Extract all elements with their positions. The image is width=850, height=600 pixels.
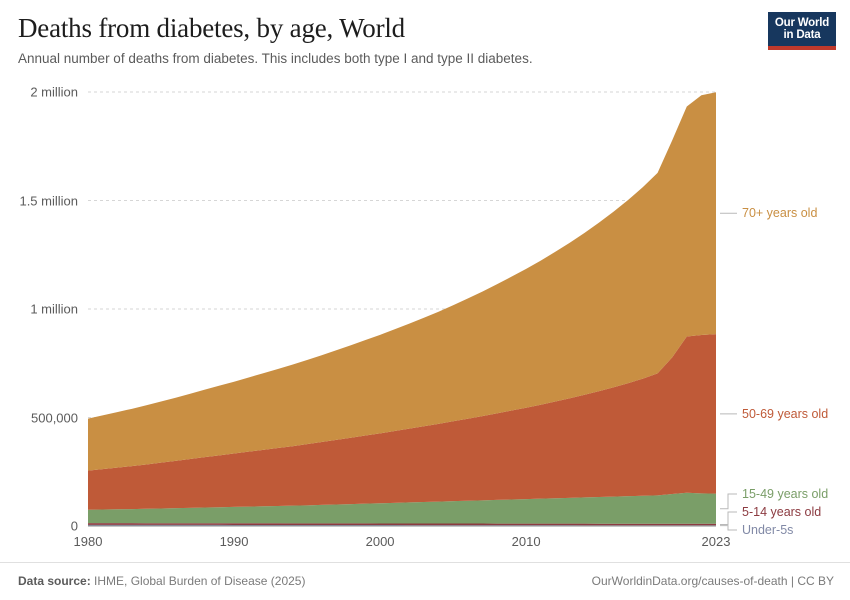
owid-logo-line1: Our World <box>775 17 829 30</box>
owid-logo[interactable]: Our World in Data <box>768 12 836 50</box>
series-label-age50_69[interactable]: 50-69 years old <box>742 407 828 421</box>
series-label-age15_49[interactable]: 15-49 years old <box>742 487 828 501</box>
x-axis-ticks: 19801990200020102023 <box>0 78 850 556</box>
series-label-age70plus[interactable]: 70+ years old <box>742 206 817 220</box>
attribution-link[interactable]: OurWorldinData.org/causes-of-death | CC … <box>592 574 834 588</box>
chart-subtitle: Annual number of deaths from diabetes. T… <box>18 50 758 67</box>
chart-footer: Data source: IHME, Global Burden of Dise… <box>0 562 850 600</box>
series-label-under5[interactable]: Under-5s <box>742 523 793 537</box>
chart-root: Deaths from diabetes, by age, World Annu… <box>0 0 850 600</box>
x-tick-label: 2023 <box>702 534 731 549</box>
x-tick-label: 1990 <box>220 534 249 549</box>
x-tick-label: 2010 <box>512 534 541 549</box>
data-source-label: Data source: <box>18 574 91 588</box>
chart-header: Deaths from diabetes, by age, World Annu… <box>18 12 758 67</box>
owid-logo-line2: in Data <box>784 29 821 42</box>
x-tick-label: 1980 <box>74 534 103 549</box>
series-label-age5_14[interactable]: 5-14 years old <box>742 505 821 519</box>
data-source-text: IHME, Global Burden of Disease (2025) <box>91 574 306 588</box>
data-source: Data source: IHME, Global Burden of Dise… <box>18 574 305 588</box>
page-title: Deaths from diabetes, by age, World <box>18 12 758 44</box>
x-tick-label: 2000 <box>366 534 395 549</box>
chart-plot-area: 0500,0001 million1.5 million2 million 19… <box>0 78 850 556</box>
